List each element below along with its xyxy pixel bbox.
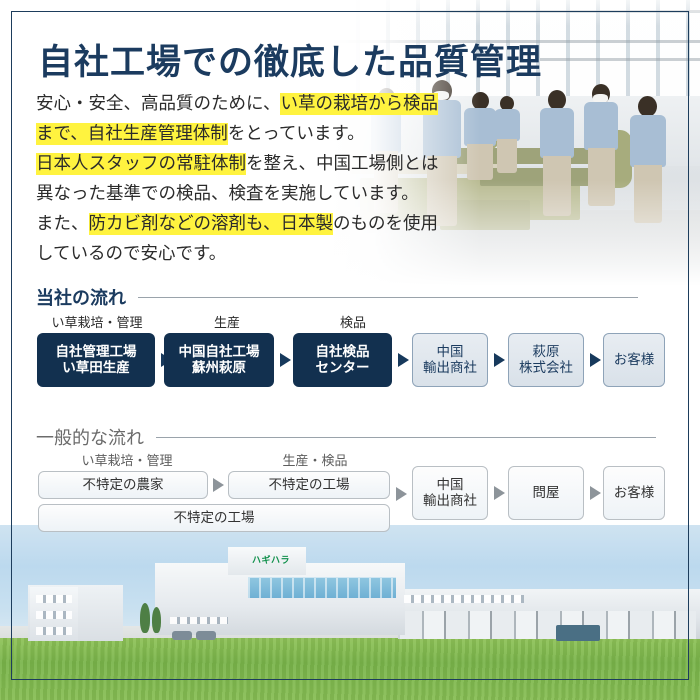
intro-line-2: まで、自社生産管理体制をとっています。 — [36, 119, 506, 149]
company-sign: ハギハラ — [252, 553, 290, 566]
highlight-4: 防カビ剤などの溶剤も、日本製 — [89, 213, 333, 235]
loading-doors — [400, 611, 696, 639]
tree — [152, 607, 161, 633]
flow-box-unspecified-factory-wide[interactable]: 不特定の工場 — [38, 504, 390, 532]
flow-box-own-factory[interactable]: 自社管理工場 い草田生産 — [37, 333, 155, 387]
flow-arrow — [396, 487, 407, 501]
intro-line-5: また、防カビ剤などの溶剤も、日本製のものを使用 — [36, 209, 506, 239]
intro-line-3: 日本人スタッフの常駐体制を整え、中国工場側とは — [36, 149, 506, 179]
flow-box-text: お客様 — [614, 352, 655, 368]
infographic-page: ハギハラ 自社工場での徹底した品質管理 安心・安全、高品質のために、い草の栽培か… — [0, 0, 700, 700]
intro-line-6: しているので安心です。 — [36, 239, 506, 269]
heading-rule — [138, 297, 638, 298]
flow-box-text: 萩原 株式会社 — [519, 344, 573, 376]
intro-line-4: 異なった基準での検品、検査を実施しています。 — [36, 179, 506, 209]
flow-box-text: 中国 輸出商社 — [423, 477, 477, 509]
window-row — [36, 627, 72, 635]
car — [172, 631, 192, 640]
flow-box-unspecified-farm[interactable]: 不特定の農家 — [38, 471, 208, 499]
flow-box-unspecified-factory[interactable]: 不特定の工場 — [228, 471, 390, 499]
window-band — [248, 577, 396, 598]
window-row — [404, 595, 524, 603]
flow-box-text: 中国 輸出商社 — [423, 344, 477, 376]
flow-box-text: 自社検品 センター — [316, 344, 370, 376]
general-flow-heading: 一般的な流れ — [36, 424, 656, 450]
column-label-cultivation: い草栽培・管理 — [32, 312, 162, 331]
flow-arrow — [398, 353, 409, 367]
column-label-production-general: 生産・検品 — [230, 450, 400, 469]
column-label-cultivation-general: い草栽培・管理 — [42, 450, 212, 469]
flow-box-text: 不特定の農家 — [83, 477, 164, 493]
flow-box-text: 自社管理工場 い草田生産 — [56, 344, 137, 376]
car — [196, 631, 216, 640]
column-label-production: 生産 — [162, 312, 292, 331]
flow-arrow — [494, 486, 505, 500]
flow-box-china-factory[interactable]: 中国自社工場 蘇州萩原 — [164, 333, 274, 387]
column-label-inspection: 検品 — [290, 312, 416, 331]
flow-box-text: 不特定の工場 — [269, 477, 350, 493]
grass-field — [0, 638, 700, 700]
flow-box-customer-general[interactable]: お客様 — [603, 466, 665, 520]
company-flow-title: 当社の流れ — [36, 284, 126, 310]
flow-arrow — [590, 486, 601, 500]
flow-arrow — [213, 478, 224, 492]
highlight-3: 日本人スタッフの常駐体制 — [36, 153, 246, 175]
flow-box-text: 不特定の工場 — [174, 510, 255, 526]
highlight-1: い草の栽培から検品 — [280, 93, 438, 115]
intro-paragraph: 安心・安全、高品質のために、い草の栽培から検品 まで、自社生産管理体制をとってい… — [36, 89, 506, 269]
flow-box-customer[interactable]: お客様 — [603, 333, 665, 387]
flow-box-wholesaler[interactable]: 問屋 — [508, 466, 584, 520]
window-row — [36, 611, 72, 619]
flow-box-inspection-center[interactable]: 自社検品 センター — [293, 333, 392, 387]
flow-arrow — [494, 353, 505, 367]
tree — [140, 603, 150, 633]
flow-box-text: 問屋 — [533, 485, 560, 501]
ceiling-beam — [540, 58, 700, 61]
company-flow-heading: 当社の流れ — [36, 284, 656, 310]
factory-building-photo: ハギハラ — [0, 525, 700, 700]
flow-box-china-exporter[interactable]: 中国 輸出商社 — [412, 333, 488, 387]
flow-arrow — [280, 353, 291, 367]
flow-box-text: お客様 — [614, 485, 655, 501]
intro-line-1: 安心・安全、高品質のために、い草の栽培から検品 — [36, 89, 506, 119]
flow-box-hagihara[interactable]: 萩原 株式会社 — [508, 333, 584, 387]
flow-box-text: 中国自社工場 蘇州萩原 — [179, 344, 260, 376]
truck — [556, 625, 600, 641]
highlight-2: まで、自社生産管理体制 — [36, 123, 228, 145]
window-row — [36, 595, 72, 603]
window-row — [170, 617, 228, 624]
general-flow-title: 一般的な流れ — [36, 424, 144, 450]
flow-arrow — [590, 353, 601, 367]
heading-rule — [156, 437, 656, 438]
page-title: 自社工場での徹底した品質管理 — [38, 34, 542, 85]
flow-box-china-exporter-general[interactable]: 中国 輸出商社 — [412, 466, 488, 520]
